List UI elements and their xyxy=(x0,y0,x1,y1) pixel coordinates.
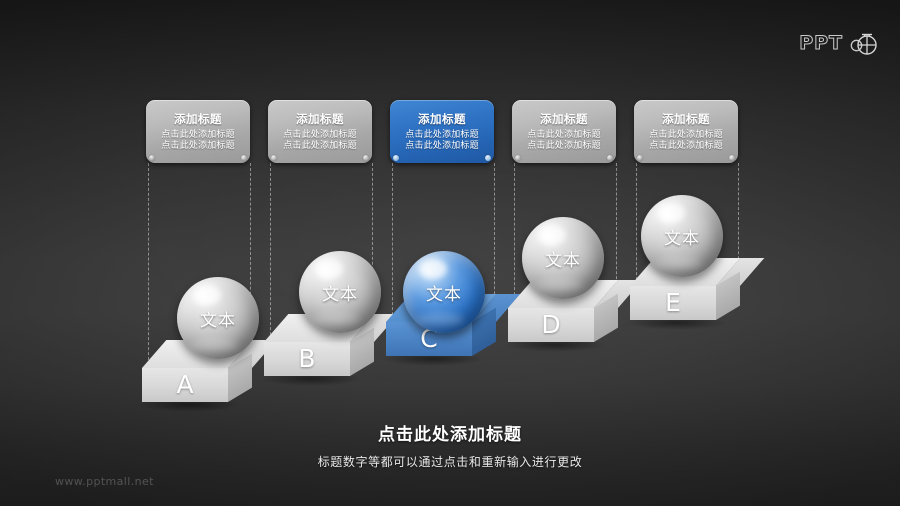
info-card-c[interactable]: 添加标题 点击此处添加标题 点击此处添加标题 xyxy=(390,100,494,163)
screw-icon-right xyxy=(607,155,613,161)
card-line-2: 点击此处添加标题 xyxy=(161,141,235,153)
pptmall-circle-cross-icon xyxy=(848,28,878,58)
pptmall-logo: PPT xyxy=(799,28,878,58)
step-letter: A xyxy=(142,370,228,399)
info-card-d[interactable]: 添加标题 点击此处添加标题 点击此处添加标题 xyxy=(512,100,616,163)
screw-icon-right xyxy=(729,155,735,161)
screw-icon-right xyxy=(241,155,247,161)
step-letter: B xyxy=(264,344,350,373)
sphere-label: 文本 xyxy=(426,280,462,305)
card-title: 添加标题 xyxy=(540,111,588,127)
connector-line-c-right xyxy=(494,163,495,309)
connector-line-d-right xyxy=(616,163,617,289)
logo-text: PPT xyxy=(799,32,843,54)
card-title: 添加标题 xyxy=(418,111,466,127)
info-card-b[interactable]: 添加标题 点击此处添加标题 点击此处添加标题 xyxy=(268,100,372,163)
card-title: 添加标题 xyxy=(662,111,710,127)
step-letter: E xyxy=(630,288,716,317)
card-line-1: 点击此处添加标题 xyxy=(283,130,357,142)
sphere-label: 文本 xyxy=(322,280,358,305)
card-line-1: 点击此处添加标题 xyxy=(161,130,235,142)
step-sphere-a[interactable]: 文本 xyxy=(177,277,259,359)
card-line-1: 点击此处添加标题 xyxy=(405,130,479,142)
card-line-2: 点击此处添加标题 xyxy=(283,141,357,153)
step-sphere-c[interactable]: 文本 xyxy=(403,251,485,333)
step-sphere-e[interactable]: 文本 xyxy=(641,195,723,277)
info-card-e[interactable]: 添加标题 点击此处添加标题 点击此处添加标题 xyxy=(634,100,738,163)
sphere-label: 文本 xyxy=(545,246,581,271)
screw-icon-left xyxy=(149,155,155,161)
sphere-label: 文本 xyxy=(200,306,236,331)
card-line-2: 点击此处添加标题 xyxy=(527,141,601,153)
step-sphere-b[interactable]: 文本 xyxy=(299,251,381,333)
card-title: 添加标题 xyxy=(174,111,222,127)
screw-icon-left xyxy=(637,155,643,161)
sphere-label: 文本 xyxy=(664,224,700,249)
footer-subtitle[interactable]: 标题数字等都可以通过点击和重新输入进行更改 xyxy=(0,453,900,470)
screw-icon-left xyxy=(515,155,521,161)
screw-icon-left xyxy=(271,155,277,161)
footer-title[interactable]: 点击此处添加标题 xyxy=(0,420,900,445)
presentation-slide: PPT 添加标题 点击此处添加标题 点击此处添加标题 添加标题 xyxy=(0,0,900,506)
step-sphere-d[interactable]: 文本 xyxy=(522,217,604,299)
step-letter: D xyxy=(508,310,594,339)
screw-icon-left xyxy=(393,155,399,161)
card-line-1: 点击此处添加标题 xyxy=(527,130,601,142)
screw-icon-right xyxy=(485,155,491,161)
card-line-1: 点击此处添加标题 xyxy=(649,130,723,142)
connector-line-e-right xyxy=(738,163,739,269)
screw-icon-right xyxy=(363,155,369,161)
card-title: 添加标题 xyxy=(296,111,344,127)
card-line-2: 点击此处添加标题 xyxy=(649,141,723,153)
info-card-a[interactable]: 添加标题 点击此处添加标题 点击此处添加标题 xyxy=(146,100,250,163)
watermark: www.pptmall.net xyxy=(55,475,154,488)
card-line-2: 点击此处添加标题 xyxy=(405,141,479,153)
